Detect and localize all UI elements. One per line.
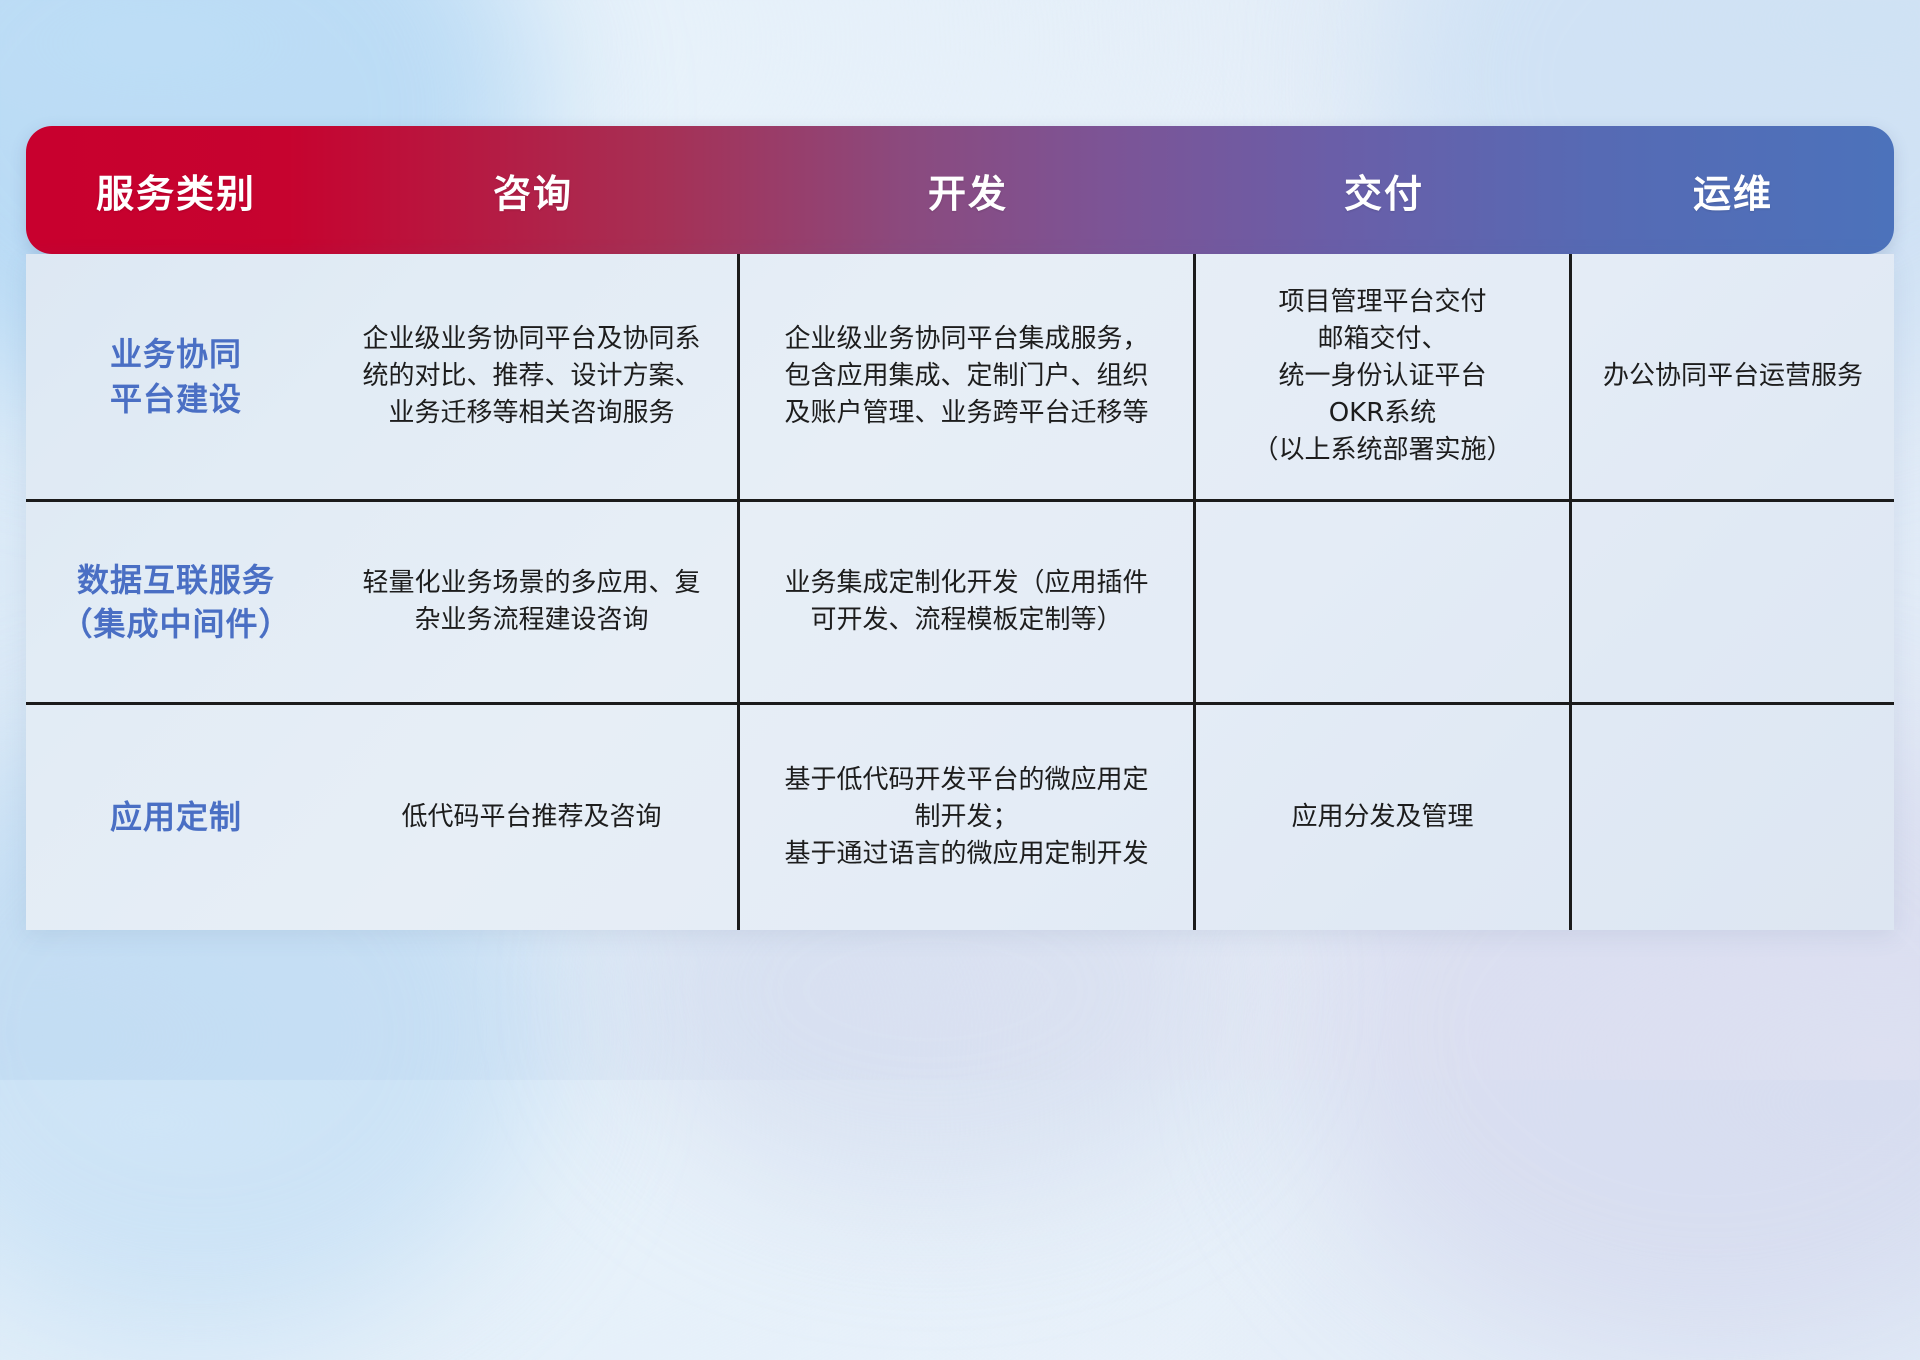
column-header-delivery: 交付 [1196,126,1572,254]
row-label-app-customization: 应用定制 [26,705,326,930]
cell-consulting-r2: 轻量化业务场景的多应用、复 杂业务流程建设咨询 [326,502,740,702]
slide-canvas: 服务类别 咨询 开发 交付 运维 业务协同 平台建设 企业级业务协同平台及协同系… [0,0,1920,1080]
table-row: 应用定制 低代码平台推荐及咨询 基于低代码开发平台的微应用定 制开发； 基于通过… [26,702,1894,930]
cell-consulting-r1: 企业级业务协同平台及协同系 统的对比、推荐、设计方案、 业务迁移等相关咨询服务 [326,254,740,499]
column-header-consulting: 咨询 [326,126,740,254]
column-header-development: 开发 [740,126,1196,254]
table-row: 业务协同 平台建设 企业级业务协同平台及协同系 统的对比、推荐、设计方案、 业务… [26,254,1894,499]
column-header-category: 服务类别 [26,126,326,254]
row-label-data-integration: 数据互联服务 （集成中间件） [26,502,326,702]
table-header-row: 服务类别 咨询 开发 交付 运维 [26,126,1894,254]
cell-consulting-r3: 低代码平台推荐及咨询 [326,705,740,930]
service-matrix-table: 服务类别 咨询 开发 交付 运维 业务协同 平台建设 企业级业务协同平台及协同系… [26,126,1894,930]
cell-delivery-r3: 应用分发及管理 [1196,705,1572,930]
column-header-operations: 运维 [1572,126,1894,254]
cell-development-r3: 基于低代码开发平台的微应用定 制开发； 基于通过语言的微应用定制开发 [740,705,1196,930]
cell-delivery-r2 [1196,502,1572,702]
cell-operations-r3 [1572,705,1894,930]
table-body: 业务协同 平台建设 企业级业务协同平台及协同系 统的对比、推荐、设计方案、 业务… [26,254,1894,930]
cell-operations-r1: 办公协同平台运营服务 [1572,254,1894,499]
cell-operations-r2 [1572,502,1894,702]
row-label-business-collaboration: 业务协同 平台建设 [26,254,326,499]
cell-development-r1: 企业级业务协同平台集成服务， 包含应用集成、定制门户、组织 及账户管理、业务跨平… [740,254,1196,499]
cell-development-r2: 业务集成定制化开发（应用插件 可开发、流程模板定制等） [740,502,1196,702]
cell-delivery-r1: 项目管理平台交付 邮箱交付、 统一身份认证平台 OKR系统 （以上系统部署实施） [1196,254,1572,499]
table-row: 数据互联服务 （集成中间件） 轻量化业务场景的多应用、复 杂业务流程建设咨询 业… [26,499,1894,702]
